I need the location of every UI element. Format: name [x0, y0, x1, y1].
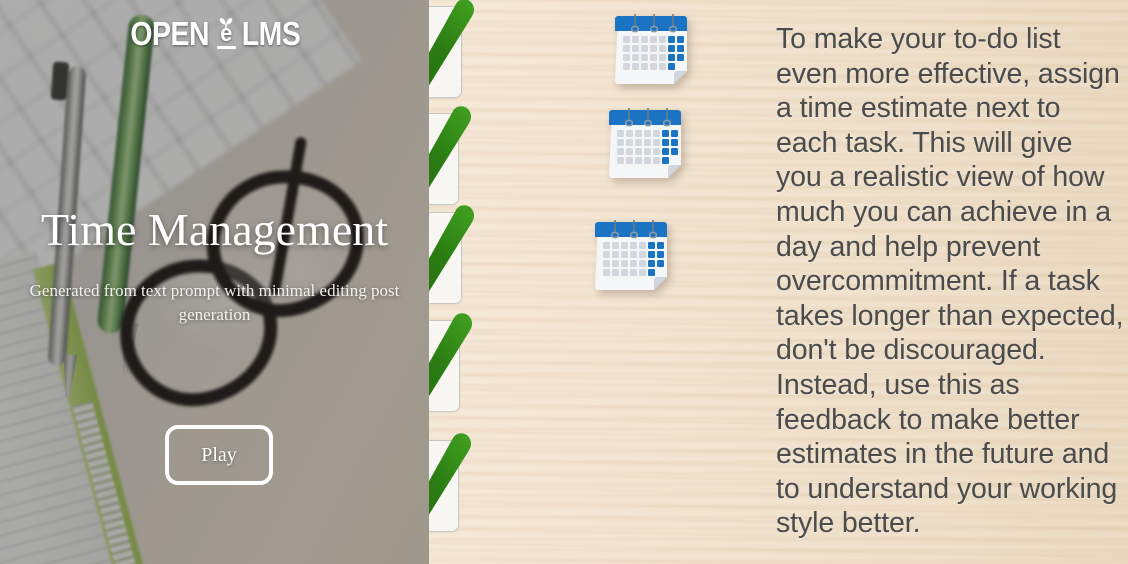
- logo-letter-e: e: [220, 22, 232, 46]
- calendar-icon-1: [612, 8, 696, 92]
- play-button[interactable]: Play: [165, 425, 273, 485]
- logo-text-right: LMS: [241, 17, 300, 50]
- course-player-screen: To make your to-do list even more effect…: [0, 0, 1128, 564]
- open-elms-logo[interactable]: OPEN e LMS: [0, 17, 429, 50]
- calendar-stack: [592, 0, 712, 320]
- page-title: Time Management: [8, 205, 421, 256]
- hero-subtitle: Generated from text prompt with minimal …: [14, 279, 415, 327]
- logo-text-left: OPEN: [131, 17, 210, 50]
- hero-content: OPEN e LMS Time Management Generated fro…: [0, 0, 429, 564]
- lesson-body-text: To make your to-do list even more effect…: [776, 22, 1124, 541]
- course-hero-panel: OPEN e LMS Time Management Generated fro…: [0, 0, 429, 564]
- calendar-icon-2: [606, 102, 690, 186]
- logo-sprout-e: e: [216, 17, 237, 50]
- logo-underline: [217, 46, 236, 49]
- calendar-icon-3: [592, 214, 676, 298]
